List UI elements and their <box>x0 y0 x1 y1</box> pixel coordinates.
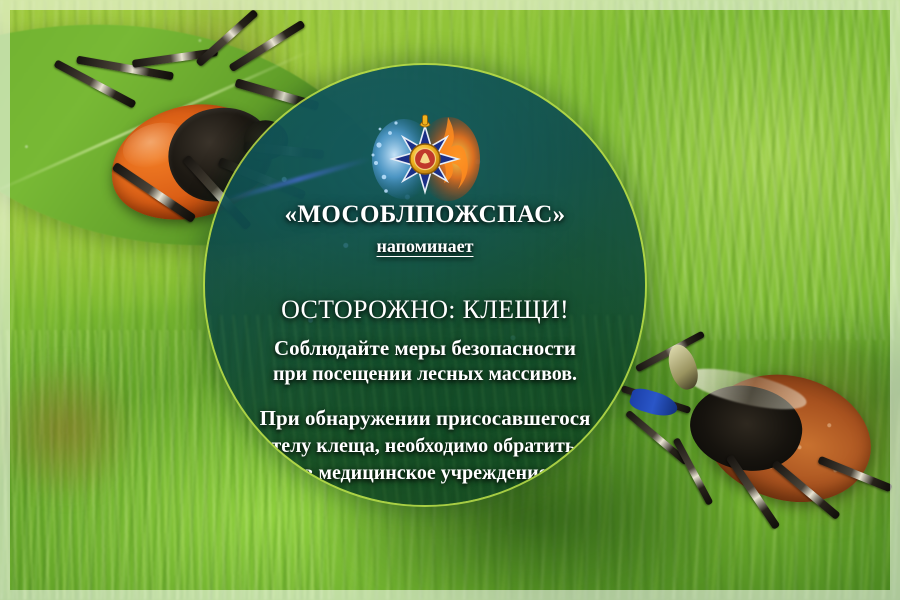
advice-line-1: Соблюдайте меры безопасности <box>205 335 645 362</box>
organization-name: «МОСОБЛПОЖСПАС» <box>205 201 645 229</box>
warning-headline: ОСТОРОЖНО: КЛЕЩИ! <box>205 295 645 325</box>
tick-safety-poster: «МОСОБЛПОЖСПАС» напоминает ОСТОРОЖНО: КЛ… <box>0 0 900 600</box>
message-text-block: «МОСОБЛПОЖСПАС» напоминает ОСТОРОЖНО: КЛ… <box>205 65 645 486</box>
grass-blades-top-right <box>620 0 900 340</box>
instruction-line-3: в медицинское учреждение <box>205 460 645 486</box>
reminds-label: напоминает <box>205 236 645 257</box>
ochre-patch-left <box>0 355 140 505</box>
medical-instruction: При обнаружении присосавшегося к телу кл… <box>205 405 645 486</box>
instruction-line-2: к телу клеща, необходимо обратиться <box>205 433 645 459</box>
safety-advice: Соблюдайте меры безопасности при посещен… <box>205 335 645 387</box>
message-circle: «МОСОБЛПОЖСПАС» напоминает ОСТОРОЖНО: КЛ… <box>205 65 645 505</box>
tick-right <box>648 330 898 560</box>
instruction-line-1: При обнаружении присосавшегося <box>205 405 645 433</box>
advice-line-2: при посещении лесных массивов. <box>205 362 645 388</box>
